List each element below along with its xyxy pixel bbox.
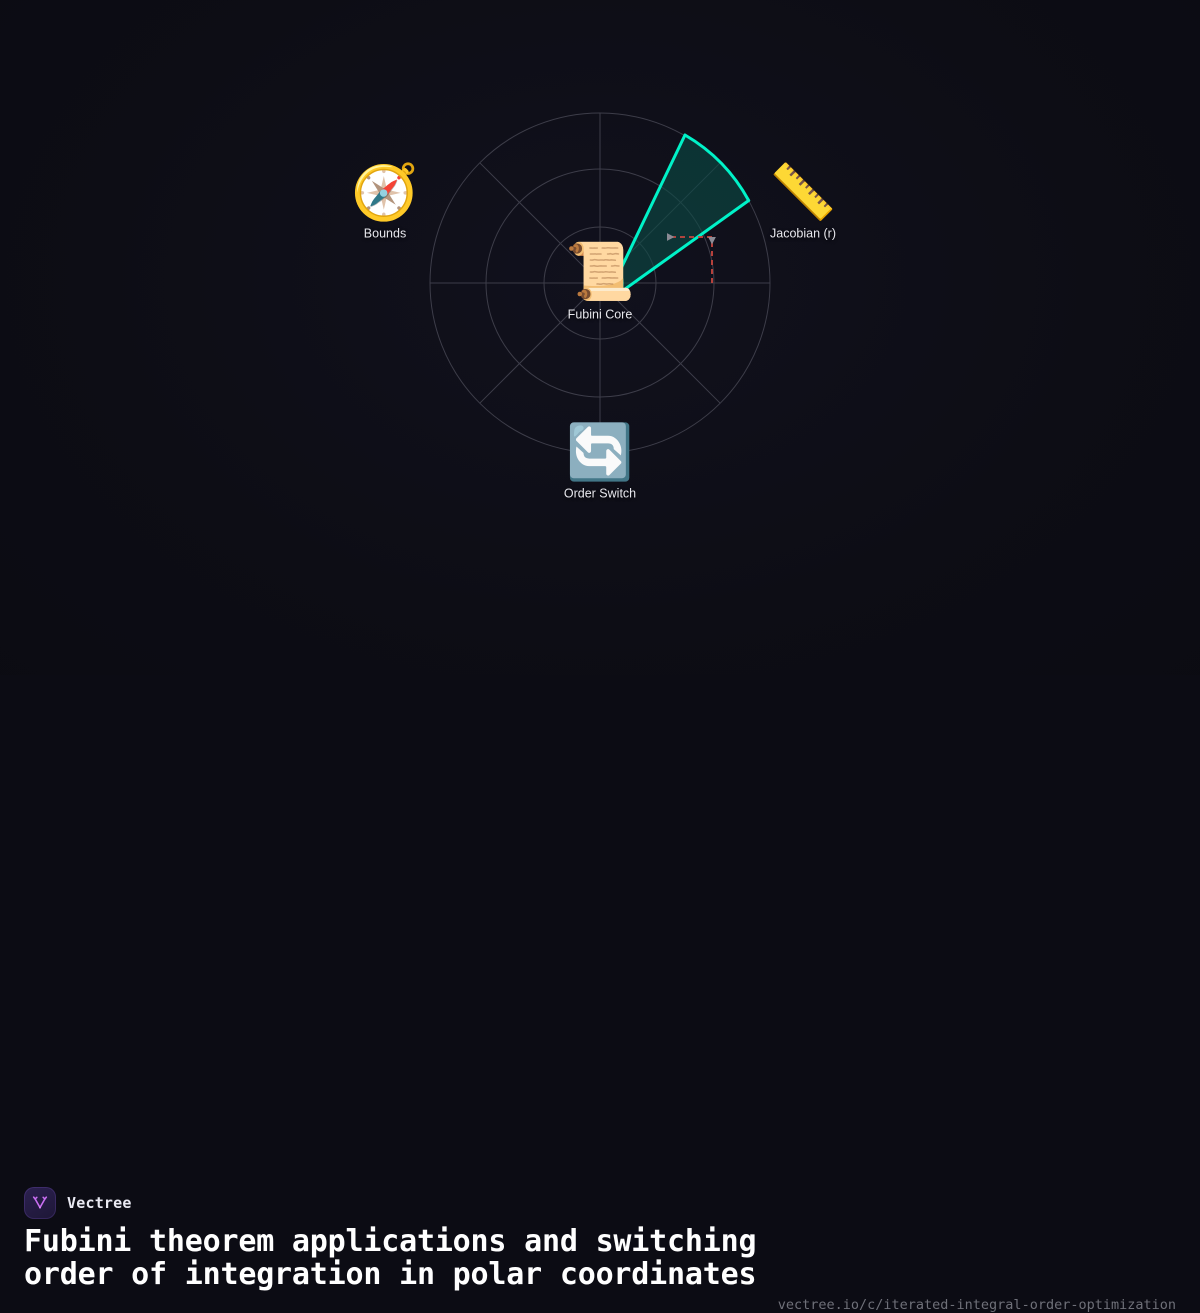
page-title: Fubini theorem applications and switchin…	[24, 1225, 784, 1291]
node-fubini-core[interactable]: 📜 Fubini Core	[565, 245, 635, 322]
integration-sector	[619, 135, 749, 293]
ruler-icon: 📏	[769, 166, 836, 220]
node-label-order-switch: Order Switch	[564, 487, 636, 501]
brand[interactable]: Vectree	[24, 1187, 132, 1219]
node-label-fubini-core: Fubini Core	[568, 308, 633, 322]
node-order-switch[interactable]: 🔄 Order Switch	[564, 426, 636, 501]
node-jacobian[interactable]: 📏 Jacobian (r)	[769, 166, 836, 241]
node-label-jacobian: Jacobian (r)	[770, 227, 836, 241]
polar-diagram	[0, 0, 1200, 675]
slide-canvas: 📜 Fubini Core 🧭 Bounds 📏 Jacobian (r) 🔄 …	[0, 0, 1200, 675]
node-label-bounds: Bounds	[364, 227, 406, 241]
vectree-logo-icon	[24, 1187, 56, 1219]
source-url: vectree.io/c/iterated-integral-order-opt…	[778, 1297, 1176, 1313]
scroll-icon: 📜	[565, 245, 635, 301]
arrows-switch-icon: 🔄	[566, 426, 633, 480]
compass-icon: 🧭	[351, 166, 418, 220]
node-bounds[interactable]: 🧭 Bounds	[351, 166, 418, 241]
brand-name: Vectree	[67, 1194, 132, 1212]
